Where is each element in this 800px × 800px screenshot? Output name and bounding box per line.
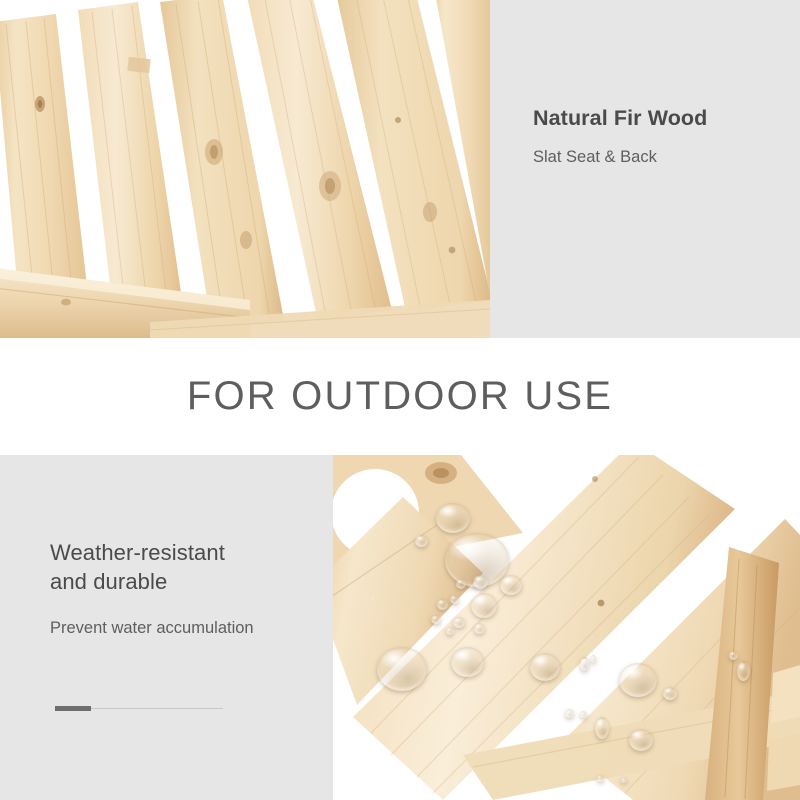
water-droplets-on-slats-photo: [333, 455, 800, 800]
top-feature-subtitle: Slat Seat & Back: [533, 148, 657, 167]
water-droplet: [377, 647, 427, 691]
water-droplet: [456, 579, 466, 589]
banner-section: FOR OUTDOOR USE: [0, 338, 800, 455]
product-feature-infographic: Natural Fir Wood Slat Seat & Back FOR OU…: [0, 0, 800, 800]
water-droplet: [737, 661, 750, 681]
slat-photo-artwork: [0, 0, 490, 338]
water-droplet: [415, 535, 428, 547]
banner-headline: FOR OUTDOOR USE: [187, 374, 613, 419]
water-droplet: [595, 717, 609, 739]
droplet-photo-artwork: [333, 455, 800, 800]
bottom-divider: [55, 706, 223, 711]
water-droplet: [621, 777, 627, 783]
bottom-feature-subtitle: Prevent water accumulation: [50, 619, 254, 638]
water-droplet: [471, 593, 497, 618]
water-droplet: [451, 647, 484, 677]
top-text-panel: Natural Fir Wood Slat Seat & Back: [490, 0, 800, 338]
water-droplet: [450, 595, 459, 604]
water-droplet: [437, 599, 448, 610]
water-droplet: [729, 651, 738, 660]
water-droplet: [597, 775, 604, 782]
bottom-title-line-1: Weather-resistant: [50, 540, 225, 565]
fir-slat-backrest-photo: [0, 0, 490, 338]
banner-inner: FOR OUTDOOR USE: [0, 338, 800, 455]
water-droplet: [530, 653, 560, 681]
water-droplet: [431, 615, 441, 624]
top-feature-title: Natural Fir Wood: [533, 105, 707, 133]
top-feature-section: Natural Fir Wood Slat Seat & Back: [0, 0, 800, 338]
water-droplet: [474, 623, 485, 634]
water-droplet: [500, 575, 522, 595]
water-droplet-group: [371, 596, 374, 601]
water-droplet: [565, 709, 574, 718]
water-droplet: [619, 663, 657, 697]
water-droplet: [629, 729, 653, 751]
water-droplet: [580, 711, 587, 718]
water-droplet: [473, 575, 488, 589]
bottom-title-line-2: and durable: [50, 569, 167, 594]
divider-stub: [55, 706, 91, 711]
water-droplet: [453, 617, 465, 628]
water-droplet: [591, 655, 596, 663]
water-droplet: [446, 627, 454, 635]
water-droplet: [436, 503, 470, 533]
water-droplet: [580, 657, 589, 671]
divider-rule: [91, 708, 223, 709]
water-droplet: [663, 687, 677, 700]
bottom-feature-title-lines: Weather-resistant and durable: [50, 538, 225, 597]
